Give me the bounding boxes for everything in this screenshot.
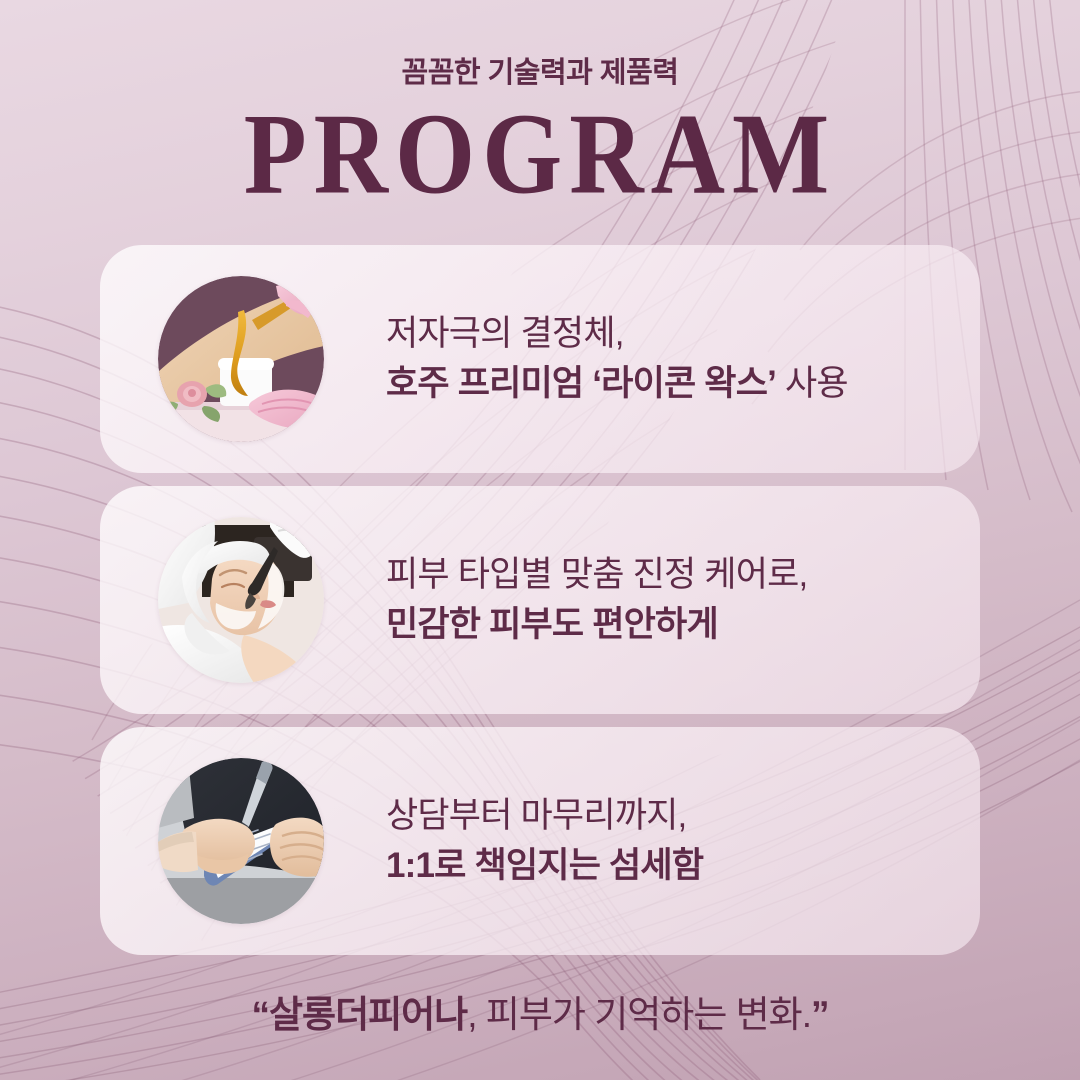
program-card: 피부 타입별 맞춤 진정 케어로, 민감한 피부도 편안하게: [100, 486, 980, 714]
consultation-photo: [158, 758, 324, 924]
card-text: 피부 타입별 맞춤 진정 케어로, 민감한 피부도 편안하게: [386, 550, 807, 649]
footer-tagline: “살롱더피어나, 피부가 기억하는 변화.”: [0, 984, 1080, 1038]
card-line-top: 피부 타입별 맞춤 진정 케어로,: [386, 550, 807, 600]
card-line-bottom-bold: 호주 프리미엄 ‘라이콘 왁스’: [386, 364, 776, 403]
brand-name: 살롱더피어나: [269, 994, 467, 1035]
tagline-rest: , 피부가 기억하는 변화.: [467, 994, 811, 1035]
card-line-top: 저자극의 결정체,: [386, 309, 848, 359]
program-card: 저자극의 결정체, 호주 프리미엄 ‘라이콘 왁스’ 사용: [100, 245, 980, 473]
facial-mask-photo: [158, 517, 324, 683]
quote-open-mark: “: [251, 994, 269, 1035]
card-text: 상담부터 마무리까지, 1:1로 책임지는 섬세함: [386, 791, 703, 890]
card-line-bottom-bold: 1:1로 책임지는 섬세함: [386, 846, 703, 885]
program-card: 상담부터 마무리까지, 1:1로 책임지는 섬세함: [100, 727, 980, 955]
page-title: PROGRAM: [0, 95, 1080, 215]
consultation-illustration: [158, 758, 324, 924]
card-line-bottom: 1:1로 책임지는 섬세함: [386, 841, 703, 891]
waxing-treatment-photo: [158, 276, 324, 442]
card-line-bottom-bold: 민감한 피부도 편안하게: [386, 605, 718, 644]
card-line-bottom-tail: 사용: [776, 364, 848, 403]
poster-header: 꼼꼼한 기술력과 제품력 PROGRAM: [0, 0, 1080, 202]
card-text: 저자극의 결정체, 호주 프리미엄 ‘라이콘 왁스’ 사용: [386, 309, 848, 408]
waxing-treatment-illustration: [158, 276, 324, 442]
header-eyebrow: 꼼꼼한 기술력과 제품력: [0, 56, 1080, 91]
card-line-bottom: 호주 프리미엄 ‘라이콘 왁스’ 사용: [386, 359, 848, 409]
quote-close-mark: ”: [811, 994, 829, 1035]
card-line-bottom: 민감한 피부도 편안하게: [386, 600, 807, 650]
facial-mask-illustration: [158, 517, 324, 683]
poster-canvas: 꼼꼼한 기술력과 제품력 PROGRAM: [0, 0, 1080, 1080]
card-line-top: 상담부터 마무리까지,: [386, 791, 703, 841]
